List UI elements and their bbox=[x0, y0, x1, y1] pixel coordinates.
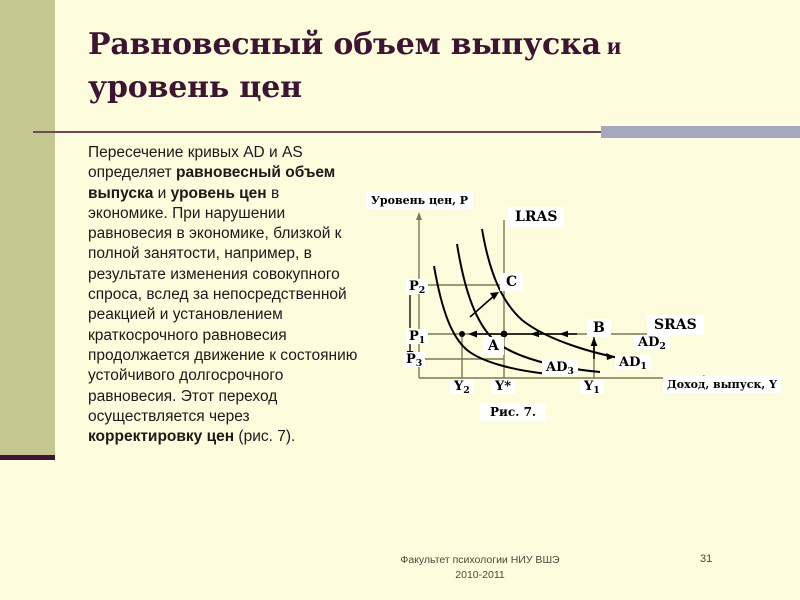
curve-label-sras: SRAS bbox=[647, 315, 704, 335]
curve-label-lras: LRAS bbox=[508, 207, 564, 227]
curve-label-ad3: AD3 bbox=[542, 360, 578, 375]
y-axis-arrowhead bbox=[416, 212, 422, 220]
x-tick-y1-base: Y bbox=[584, 379, 593, 394]
y-tick-p3: P3 bbox=[403, 352, 425, 367]
page-number: 31 bbox=[700, 553, 712, 565]
body-text-part-4: (рис. 7). bbox=[234, 428, 295, 445]
curve-label-ad2-base: AD bbox=[638, 335, 659, 350]
footer-line-1: Факультет психологии НИУ ВШЭ bbox=[330, 553, 630, 568]
left-accent-band-cap bbox=[0, 455, 55, 460]
x-tick-ystar: Y* bbox=[491, 379, 515, 394]
curve-label-ad1-base: AD bbox=[619, 355, 640, 370]
x-tick-y2-base: Y bbox=[454, 379, 463, 394]
page-title: Равновесный объем выпуска иуровень цен bbox=[88, 24, 728, 109]
x-axis-label: Доход, выпуск, Y bbox=[663, 376, 781, 393]
y-tick-p2: P2 bbox=[406, 279, 428, 294]
curve-label-ad3-base: AD bbox=[546, 360, 567, 375]
figure-caption: Рис. 7. bbox=[480, 403, 546, 421]
arrow-sras-tick-2 bbox=[559, 331, 568, 337]
price-axis-arrows bbox=[407, 295, 413, 360]
left-accent-band bbox=[0, 0, 55, 455]
body-text-bold-2: уровень цен bbox=[171, 185, 267, 202]
curve-label-ad2: AD2 bbox=[634, 335, 670, 350]
y-tick-p2-base: P bbox=[409, 279, 419, 294]
point-label-b: B bbox=[587, 319, 611, 337]
point-label-c: C bbox=[500, 273, 523, 291]
curve-label-ad2-sub: 2 bbox=[659, 341, 666, 352]
page-title-second-line: уровень цен bbox=[88, 70, 302, 105]
figure-ad-as-diagram: Уровень цен, P Доход, выпуск, Y LRAS SRA… bbox=[362, 182, 792, 432]
body-text-part-3: в экономике. При нарушении равновесия в … bbox=[88, 185, 357, 425]
body-text-part-2: и bbox=[153, 185, 170, 202]
figure-svg bbox=[362, 182, 792, 432]
y-tick-p2-sub: 2 bbox=[419, 285, 426, 296]
title-divider-accent bbox=[601, 126, 800, 138]
x-tick-y1: Y1 bbox=[580, 379, 604, 394]
curve-ad2 bbox=[482, 229, 640, 362]
body-text-bold-3: корректировку цен bbox=[88, 428, 234, 445]
curve-label-ad3-sub: 3 bbox=[567, 366, 574, 377]
equilibrium-dots bbox=[459, 282, 597, 338]
slide-footer: Факультет психологии НИУ ВШЭ 2010-2011 bbox=[330, 553, 630, 583]
point-y2-dot bbox=[459, 331, 465, 337]
y-tick-p3-base: P bbox=[406, 352, 416, 367]
y-tick-p3-sub: 3 bbox=[416, 358, 423, 369]
point-label-a: A bbox=[483, 337, 504, 355]
arrow-sras-tick-1 bbox=[530, 331, 539, 337]
x-tick-ystar-base: Y* bbox=[495, 379, 511, 394]
slide: Равновесный объем выпуска иуровень цен П… bbox=[0, 0, 800, 600]
body-paragraph: Пересечение кривых AD и AS определяет ра… bbox=[88, 143, 360, 447]
y-tick-p1-sub: 1 bbox=[419, 335, 426, 346]
x-tick-y2: Y2 bbox=[450, 379, 474, 394]
page-title-main: Равновесный объем выпуска bbox=[88, 27, 601, 62]
x-tick-y1-sub: 1 bbox=[593, 385, 600, 396]
y-tick-p1-base: P bbox=[409, 329, 419, 344]
curve-label-ad1: AD1 bbox=[615, 355, 651, 370]
curve-ad1 bbox=[457, 244, 600, 372]
y-axis-label: Уровень цен, P bbox=[366, 192, 473, 209]
footer-line-2: 2010-2011 bbox=[330, 568, 630, 583]
curve-label-ad1-sub: 1 bbox=[640, 361, 647, 372]
page-title-conjunction: и bbox=[601, 33, 621, 60]
curve-ad3 bbox=[434, 266, 548, 374]
x-tick-y2-sub: 2 bbox=[463, 385, 470, 396]
y-tick-p1: P1 bbox=[406, 329, 428, 344]
